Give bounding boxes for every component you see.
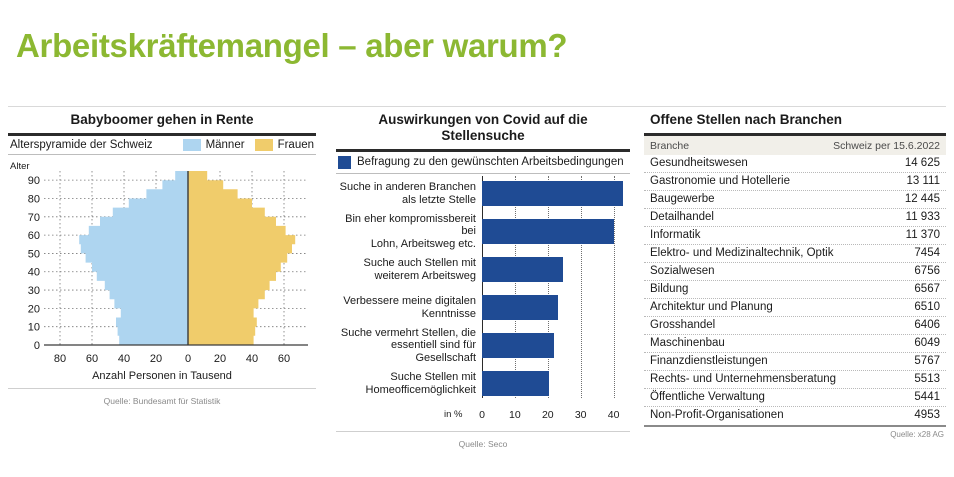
- table-title: Offene Stellen nach Branchen: [644, 112, 946, 128]
- table-header-row: Branche Schweiz per 15.6.2022: [644, 136, 946, 155]
- survey-bar-label-line: Verbessere meine digitalen: [336, 295, 476, 308]
- table-cell-value: 5767: [914, 355, 940, 367]
- survey-bar-label-line: Homeofficemöglichkeit: [336, 384, 476, 397]
- svg-text:70: 70: [28, 211, 40, 223]
- table-cell-branche: Non-Profit-Organisationen: [650, 409, 784, 421]
- survey-bar-row: Suche Stellen mitHomeofficemöglichkeit: [336, 366, 630, 402]
- pyramid-title: Babyboomer gehen in Rente: [8, 112, 316, 128]
- panel-population-pyramid: Babyboomer gehen in Rente Alterspyramide…: [8, 112, 316, 462]
- svg-text:60: 60: [28, 230, 40, 242]
- table-cell-value: 6567: [914, 283, 940, 295]
- survey-source: Quelle: Seco: [336, 439, 630, 449]
- table-row: Baugewerbe12 445: [644, 191, 946, 209]
- table-row: Öffentliche Verwaltung5441: [644, 389, 946, 407]
- svg-text:60: 60: [278, 353, 290, 365]
- svg-text:20: 20: [28, 303, 40, 315]
- table-col-branche: Branche: [650, 140, 689, 152]
- table-cell-value: 6510: [914, 301, 940, 313]
- table-cell-branche: Gastronomie und Hotellerie: [650, 175, 790, 187]
- survey-bar-label-line: als letzte Stelle: [336, 194, 476, 207]
- survey-bar-row: Suche in anderen Branchenals letzte Stel…: [336, 176, 630, 212]
- survey-bar-track: [482, 290, 630, 326]
- svg-text:20: 20: [150, 353, 162, 365]
- svg-text:90: 90: [28, 175, 40, 187]
- survey-plot-area: Suche in anderen Branchenals letzte Stel…: [336, 176, 630, 408]
- table-body: Gesundheitswesen14 625Gastronomie und Ho…: [644, 155, 946, 424]
- table-row: Informatik11 370: [644, 227, 946, 245]
- survey-bar-label-line: essentiell sind für Gesellschaft: [336, 339, 476, 364]
- table-row: Sozialwesen6756: [644, 263, 946, 281]
- survey-bar-track: [482, 214, 630, 250]
- pyramid-x-axis-title: Anzahl Personen in Tausend: [8, 370, 316, 382]
- pyramid-plot-area: 0102030405060708090 Alter 80604020020406…: [8, 157, 316, 369]
- table-cell-value: 6406: [914, 319, 940, 331]
- table-cell-value: 6049: [914, 337, 940, 349]
- survey-bar-row: Suche vermehrt Stellen, dieessentiell si…: [336, 328, 630, 364]
- svg-text:80: 80: [54, 353, 66, 365]
- table-cell-value: 11 933: [906, 211, 940, 223]
- svg-text:0: 0: [34, 340, 40, 352]
- svg-text:40: 40: [118, 353, 130, 365]
- table-row: Gesundheitswesen14 625: [644, 155, 946, 173]
- table-cell-value: 11 370: [906, 229, 940, 241]
- legend-swatch-maenner: [183, 139, 201, 151]
- table-cell-branche: Finanzdienstleistungen: [650, 355, 768, 367]
- table-cell-branche: Detailhandel: [650, 211, 714, 223]
- panel-open-positions-table: Offene Stellen nach Branchen Branche Sch…: [644, 112, 946, 462]
- survey-bar-track: [482, 252, 630, 288]
- table-cell-value: 6756: [914, 265, 940, 277]
- pyramid-subtitle: Alterspyramide der Schweiz: [10, 139, 153, 151]
- survey-legend-label: Befragung zu den gewünschten Arbeitsbedi…: [357, 156, 624, 168]
- survey-x-axis: in % 010203040: [336, 409, 630, 425]
- survey-legend-rule: [336, 173, 630, 174]
- panel-covid-survey: Auswirkungen von Covid auf die Stellensu…: [336, 112, 630, 462]
- table-cell-value: 4953: [914, 409, 940, 421]
- survey-bar-label: Suche in anderen Branchenals letzte Stel…: [336, 181, 482, 206]
- svg-text:40: 40: [246, 353, 258, 365]
- table-cell-value: 7454: [914, 247, 940, 259]
- table-col-schweiz: Schweiz per 15.6.2022: [833, 140, 940, 152]
- table-cell-value: 14 625: [905, 157, 940, 169]
- table-row: Maschinenbau6049: [644, 335, 946, 353]
- header-divider: [8, 106, 946, 107]
- survey-bar-row: Bin eher kompromissbereit beiLohn, Arbei…: [336, 214, 630, 250]
- svg-text:40: 40: [28, 266, 40, 278]
- survey-bar: [482, 371, 549, 396]
- survey-bar-label: Verbessere meine digitalenKenntnisse: [336, 295, 482, 320]
- table-cell-branche: Sozialwesen: [650, 265, 715, 277]
- survey-unit-label: in %: [444, 409, 462, 420]
- survey-bar-label: Suche auch Stellen mitweiterem Arbeitswe…: [336, 257, 482, 282]
- table-cell-branche: Elektro- und Medizinaltechnik, Optik: [650, 247, 833, 259]
- table-source: Quelle: x28 AG: [644, 427, 946, 439]
- table-cell-branche: Öffentliche Verwaltung: [650, 391, 765, 403]
- survey-bar-label-line: Suche in anderen Branchen: [336, 181, 476, 194]
- survey-bar-track: [482, 176, 630, 212]
- pyramid-area-frauen: [188, 171, 295, 345]
- table-row: Elektro- und Medizinaltechnik, Optik7454: [644, 245, 946, 263]
- svg-text:50: 50: [28, 248, 40, 260]
- svg-text:10: 10: [28, 321, 40, 333]
- survey-bar-label-line: Suche vermehrt Stellen, die: [336, 327, 476, 340]
- survey-x-tick: 0: [479, 409, 485, 421]
- table-row: Finanzdienstleistungen5767: [644, 353, 946, 371]
- survey-bar-track: [482, 366, 630, 402]
- survey-legend: Befragung zu den gewünschten Arbeitsbedi…: [336, 152, 630, 173]
- survey-bar: [482, 257, 563, 282]
- table-row: Non-Profit-Organisationen4953: [644, 407, 946, 424]
- survey-bar-row: Suche auch Stellen mitweiterem Arbeitswe…: [336, 252, 630, 288]
- survey-bar-label-line: Kenntnisse: [336, 308, 476, 321]
- table-row: Rechts- und Unternehmensberatung5513: [644, 371, 946, 389]
- survey-bar-label: Suche Stellen mitHomeofficemöglichkeit: [336, 371, 482, 396]
- table-cell-value: 5441: [914, 391, 940, 403]
- pyramid-legend-rule: [8, 154, 316, 155]
- survey-bar-rows: Suche in anderen Branchenals letzte Stel…: [336, 176, 630, 402]
- legend-entry-frauen: Frauen: [255, 139, 314, 151]
- survey-source-rule: [336, 431, 630, 432]
- table-row: Architektur und Planung6510: [644, 299, 946, 317]
- legend-swatch-frauen: [255, 139, 273, 151]
- legend-label-frauen: Frauen: [278, 139, 314, 151]
- pyramid-chart-svg: 0102030405060708090 Alter 80604020020406…: [8, 157, 316, 369]
- survey-bar: [482, 219, 614, 244]
- table-cell-branche: Gesundheitswesen: [650, 157, 748, 169]
- legend-swatch-befragung: [338, 156, 351, 169]
- survey-x-tick: 40: [608, 409, 620, 421]
- survey-bar-label-line: Bin eher kompromissbereit bei: [336, 213, 476, 238]
- svg-text:0: 0: [185, 353, 191, 365]
- survey-bar-label: Bin eher kompromissbereit beiLohn, Arbei…: [336, 213, 482, 251]
- pyramid-area-maenner: [79, 171, 188, 345]
- table-cell-branche: Grosshandel: [650, 319, 715, 331]
- survey-bar-track: [482, 328, 630, 364]
- survey-x-tick: 30: [575, 409, 587, 421]
- table-cell-branche: Informatik: [650, 229, 701, 241]
- survey-bar: [482, 295, 558, 320]
- table-cell-value: 5513: [914, 373, 940, 385]
- table-row: Bildung6567: [644, 281, 946, 299]
- table-cell-branche: Architektur und Planung: [650, 301, 773, 313]
- table-row: Grosshandel6406: [644, 317, 946, 335]
- table-row: Gastronomie und Hotellerie13 111: [644, 173, 946, 191]
- survey-bar-label-line: Suche auch Stellen mit: [336, 257, 476, 270]
- survey-x-tick: 10: [509, 409, 521, 421]
- pyramid-source-rule: [8, 388, 316, 389]
- survey-bar-row: Verbessere meine digitalenKenntnisse: [336, 290, 630, 326]
- survey-bar: [482, 333, 554, 358]
- table-row: Detailhandel11 933: [644, 209, 946, 227]
- survey-bar-label-line: Suche Stellen mit: [336, 371, 476, 384]
- svg-text:20: 20: [214, 353, 226, 365]
- table-cell-branche: Baugewerbe: [650, 193, 715, 205]
- svg-text:30: 30: [28, 285, 40, 297]
- survey-bar: [482, 181, 623, 206]
- survey-x-tick: 20: [542, 409, 554, 421]
- survey-bar-label-line: weiterem Arbeitsweg: [336, 270, 476, 283]
- legend-entry-maenner: Männer: [183, 139, 245, 151]
- page-title: Arbeitskräftemangel – aber warum?: [16, 27, 567, 65]
- pyramid-y-tick-labels: 0102030405060708090: [28, 175, 40, 352]
- table-cell-branche: Bildung: [650, 283, 688, 295]
- survey-bar-label: Suche vermehrt Stellen, dieessentiell si…: [336, 327, 482, 365]
- pyramid-y-axis-title: Alter: [10, 161, 30, 172]
- table-cell-value: 12 445: [905, 193, 940, 205]
- table-cell-value: 13 111: [907, 175, 940, 187]
- svg-text:60: 60: [86, 353, 98, 365]
- pyramid-legend: Alterspyramide der Schweiz Männer Frauen: [8, 136, 316, 154]
- survey-title: Auswirkungen von Covid auf die Stellensu…: [336, 112, 630, 144]
- svg-text:80: 80: [28, 193, 40, 205]
- table-cell-branche: Maschinenbau: [650, 337, 725, 349]
- pyramid-x-tick-labels: 806040200204060: [54, 353, 290, 365]
- pyramid-source: Quelle: Bundesamt für Statistik: [8, 396, 316, 406]
- legend-label-maenner: Männer: [206, 139, 245, 151]
- survey-bar-label-line: Lohn, Arbeitsweg etc.: [336, 238, 476, 251]
- table-cell-branche: Rechts- und Unternehmensberatung: [650, 373, 836, 385]
